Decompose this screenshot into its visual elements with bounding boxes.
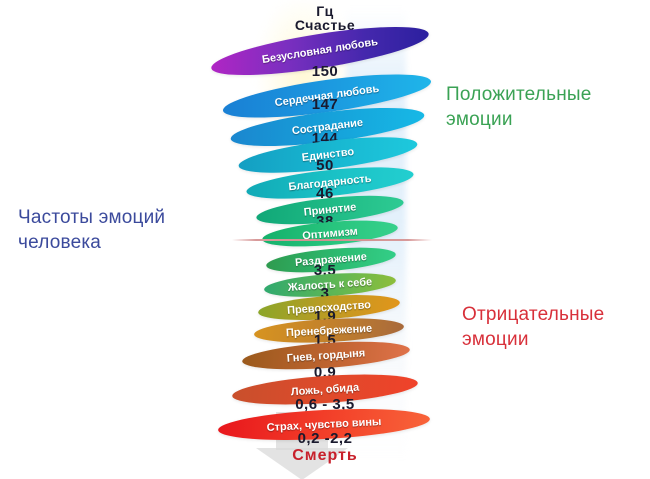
value-0-2-2-2: 0,2 -2,2	[0, 430, 650, 447]
value-150: 150	[0, 63, 650, 80]
death-label: Смерть	[0, 447, 650, 465]
positive-negative-divider	[232, 239, 432, 241]
band-label: Гнев, гордыня	[286, 347, 365, 364]
legend-positive-emotions: Положительные эмоции	[446, 82, 592, 132]
emotion-frequency-chart: Гц Счастье 205 Безусловная любовь 150 Се…	[0, 0, 650, 479]
band-label: Безусловная любовь	[261, 36, 378, 66]
top-emotion-label: Счастье	[0, 17, 650, 33]
chart-title-left: Частоты эмоций человека	[18, 205, 165, 255]
legend-negative-emotions: Отрицательные эмоции	[462, 302, 604, 352]
